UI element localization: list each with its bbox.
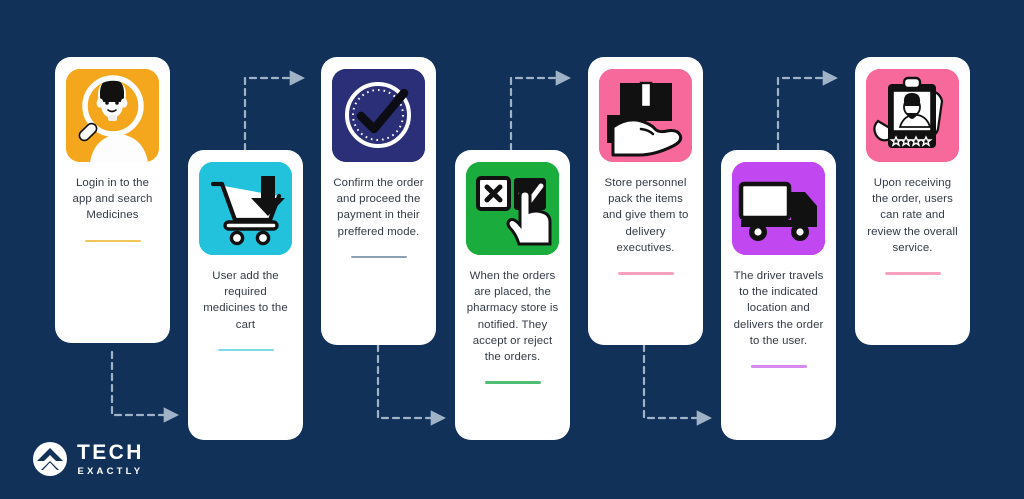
connector-2-to-3: [245, 78, 302, 150]
step-card-6-accent: [751, 365, 807, 368]
infographic-canvas: Login in to the app and search Medicines…: [0, 0, 1024, 499]
connector-5-to-6: [644, 345, 709, 418]
step-card-6-text: The driver travels to the indicated loca…: [732, 268, 825, 349]
brand-logo: TECH EXACTLY: [32, 441, 144, 477]
connector-4-to-5: [511, 78, 568, 150]
step-card-6[interactable]: The driver travels to the indicated loca…: [721, 150, 836, 440]
connector-6-to-7: [778, 78, 835, 150]
step-card-1-text: Login in to the app and search Medicines: [66, 175, 159, 224]
step-card-5-accent: [618, 272, 674, 275]
step-card-5-text: Store personnel pack the items and give …: [599, 175, 692, 256]
step-card-7-text: Upon receiving the order, users can rate…: [866, 175, 959, 256]
step-card-1[interactable]: Login in to the app and search Medicines: [55, 57, 170, 343]
connector-1-to-2: [112, 352, 176, 415]
step-card-7-accent: [885, 272, 941, 275]
step-card-2-text: User add the required medicines to the c…: [199, 268, 292, 333]
logo-line-1: TECH: [77, 442, 144, 463]
logo-line-2: EXACTLY: [77, 467, 144, 477]
magnifier-person-icon: [66, 69, 159, 162]
step-card-7[interactable]: Upon receiving the order, users can rate…: [855, 57, 970, 345]
step-card-3-accent: [351, 256, 407, 259]
delivery-truck-icon: [732, 162, 825, 255]
connector-3-to-4: [378, 345, 443, 418]
step-card-4-accent: [485, 381, 541, 384]
step-card-3-text: Confirm the order and proceed the paymen…: [332, 175, 425, 240]
accept-reject-tap-icon: [466, 162, 559, 255]
step-card-2-accent: [218, 349, 274, 352]
step-card-5[interactable]: Store personnel pack the items and give …: [588, 57, 703, 345]
step-card-4-text: When the orders are placed, the pharmacy…: [466, 268, 559, 365]
clipboard-rating-review-icon: [866, 69, 959, 162]
step-card-1-accent: [85, 240, 141, 243]
step-card-3[interactable]: Confirm the order and proceed the paymen…: [321, 57, 436, 345]
shopping-cart-download-icon: [199, 162, 292, 255]
step-card-4[interactable]: When the orders are placed, the pharmacy…: [455, 150, 570, 440]
hand-holding-box-icon: [599, 69, 692, 162]
step-card-2[interactable]: User add the required medicines to the c…: [188, 150, 303, 440]
tech-exactly-shield-icon: [32, 441, 68, 477]
check-circle-icon: [332, 69, 425, 162]
logo-wordmark: TECH EXACTLY: [77, 442, 144, 477]
